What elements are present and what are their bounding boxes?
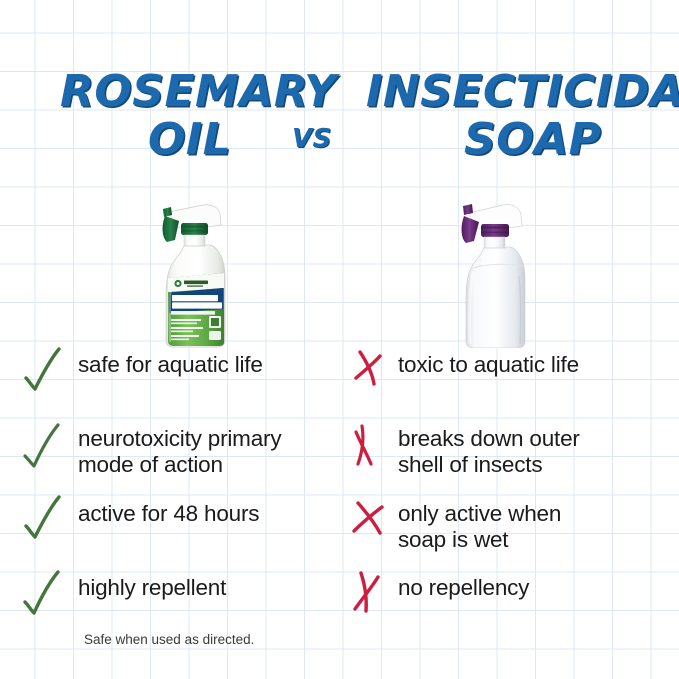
list-item: highly repellent: [18, 575, 358, 627]
cross-icon: [350, 569, 394, 617]
check-icon: [22, 346, 66, 394]
list-item: no repellency: [348, 575, 679, 627]
list-item-text: only active when soap is wet: [398, 501, 679, 554]
earths-ally-insect-control-bottle-image: [145, 196, 240, 348]
cross-icon: [350, 346, 394, 394]
cross-icon: [350, 495, 394, 543]
title-right-line1: INSECTICIDAL: [366, 70, 679, 114]
list-item-text: safe for aquatic life: [78, 352, 358, 378]
list-item-text: highly repellent: [78, 575, 358, 601]
list-item-text: active for 48 hours: [78, 501, 358, 527]
list-item: neurotoxicity primary mode of action: [18, 426, 358, 479]
list-item: active for 48 hours: [18, 501, 358, 553]
title-left-line1: ROSEMARY: [60, 70, 337, 114]
title-right-line2: SOAP: [464, 118, 601, 162]
list-item-line: only active when: [398, 501, 679, 527]
list-item-line: no repellency: [398, 575, 679, 601]
check-icon: [22, 569, 66, 617]
list-item: toxic to aquatic life: [348, 352, 679, 404]
list-item: only active when soap is wet: [348, 501, 679, 554]
comparison-infographic: ROSEMARY OIL VS INSECTICIDAL SOAP: [0, 0, 679, 679]
list-item-line: breaks down outer: [398, 426, 679, 452]
list-item-line: shell of insects: [398, 452, 679, 478]
list-item-line: neurotoxicity primary: [78, 426, 358, 452]
check-icon: [22, 495, 66, 543]
list-item-line: soap is wet: [398, 527, 679, 553]
list-item-line: active for 48 hours: [78, 501, 358, 527]
rosemary-oil-benefits-list: safe for aquatic life neurotoxicity prim…: [18, 352, 358, 649]
cross-icon: [350, 420, 394, 468]
list-item-text: breaks down outer shell of insects: [398, 426, 679, 479]
title-vs: VS: [292, 126, 332, 152]
list-item: safe for aquatic life: [18, 352, 358, 404]
check-icon: [22, 420, 66, 468]
list-item-text: neurotoxicity primary mode of action: [78, 426, 358, 479]
insecticidal-soap-drawbacks-list: toxic to aquatic life breaks down outer …: [348, 352, 679, 649]
list-item-text: toxic to aquatic life: [398, 352, 679, 378]
list-item-line: safe for aquatic life: [78, 352, 358, 378]
footnote-disclaimer: Safe when used as directed.: [84, 632, 254, 647]
list-item-line: mode of action: [78, 452, 358, 478]
list-item-line: toxic to aquatic life: [398, 352, 679, 378]
list-item-text: no repellency: [398, 575, 679, 601]
list-item-line: highly repellent: [78, 575, 358, 601]
insecticidal-soap-bottle-image: [443, 196, 538, 348]
list-item: breaks down outer shell of insects: [348, 426, 679, 479]
page-title: ROSEMARY OIL VS INSECTICIDAL SOAP: [0, 58, 679, 174]
title-left-line2: OIL: [148, 118, 231, 162]
